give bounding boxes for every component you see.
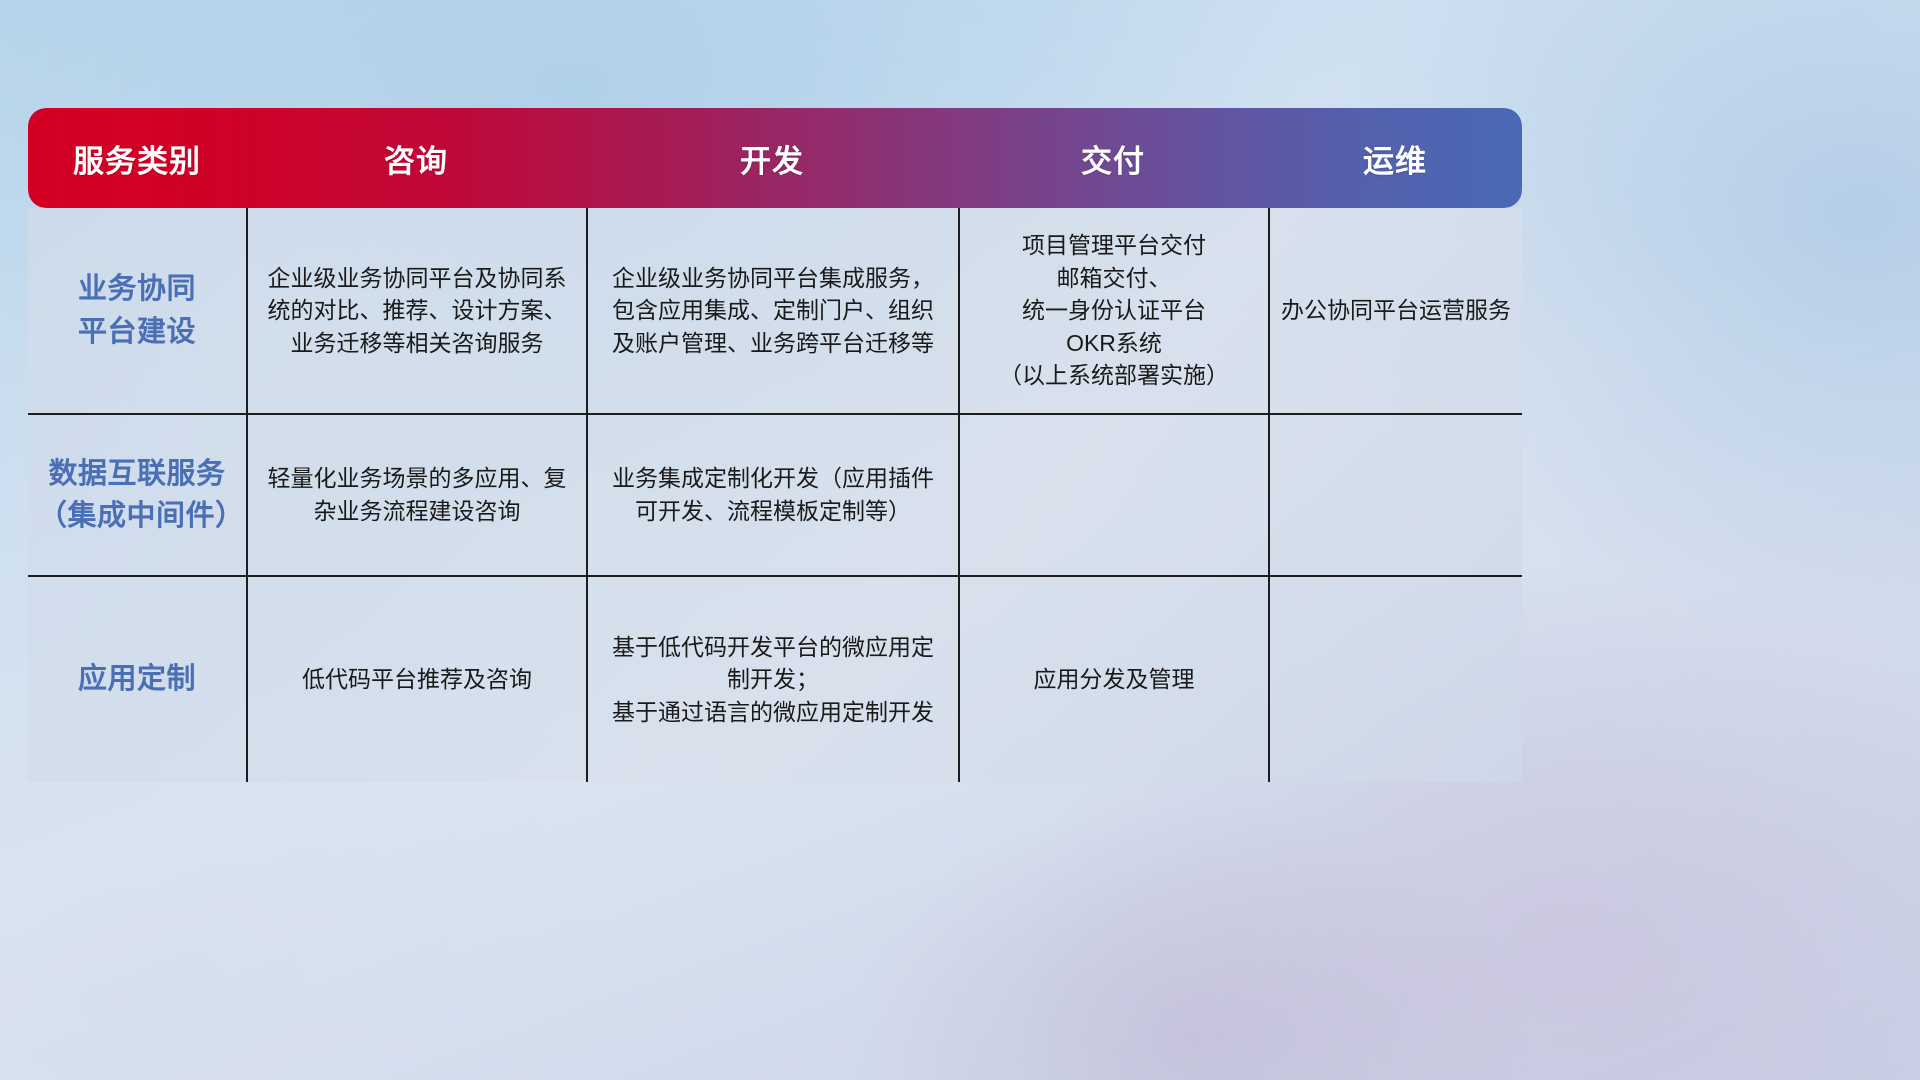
cell-consulting-row3: 低代码平台推荐及咨询 [246, 577, 586, 782]
column-header-category: 服务类别 [28, 108, 246, 208]
table-row: 应用定制 低代码平台推荐及咨询 基于低代码开发平台的微应用定 制开发； 基于通过… [28, 575, 1522, 782]
cell-operations-row1: 办公协同平台运营服务 [1268, 208, 1522, 413]
cell-development-row2: 业务集成定制化开发（应用插件 可开发、流程模板定制等） [586, 415, 958, 575]
column-header-delivery: 交付 [958, 108, 1268, 208]
cell-development-row1: 企业级业务协同平台集成服务， 包含应用集成、定制门户、组织 及账户管理、业务跨平… [586, 208, 958, 413]
cell-consulting-row1: 企业级业务协同平台及协同系 统的对比、推荐、设计方案、 业务迁移等相关咨询服务 [246, 208, 586, 413]
column-header-operations: 运维 [1268, 108, 1522, 208]
table-header-row: 服务类别 咨询 开发 交付 运维 [28, 108, 1522, 208]
column-header-consulting: 咨询 [246, 108, 586, 208]
cell-development-row3: 基于低代码开发平台的微应用定 制开发； 基于通过语言的微应用定制开发 [586, 577, 958, 782]
cell-operations-row2 [1268, 415, 1522, 575]
column-header-development: 开发 [586, 108, 958, 208]
service-matrix-table: 服务类别 咨询 开发 交付 运维 业务协同 平台建设 企业级业务协同平台及协同系… [28, 108, 1522, 782]
table-row: 业务协同 平台建设 企业级业务协同平台及协同系 统的对比、推荐、设计方案、 业务… [28, 208, 1522, 413]
cell-consulting-row2: 轻量化业务场景的多应用、复 杂业务流程建设咨询 [246, 415, 586, 575]
table-body: 业务协同 平台建设 企业级业务协同平台及协同系 统的对比、推荐、设计方案、 业务… [28, 208, 1522, 782]
cell-delivery-row1: 项目管理平台交付 邮箱交付、 统一身份认证平台 OKR系统 （以上系统部署实施） [958, 208, 1268, 413]
row-label-business-collab: 业务协同 平台建设 [28, 208, 246, 413]
cell-delivery-row2 [958, 415, 1268, 575]
row-label-data-interconnect: 数据互联服务 （集成中间件） [28, 415, 246, 575]
row-label-app-customization: 应用定制 [28, 577, 246, 782]
cell-delivery-row3: 应用分发及管理 [958, 577, 1268, 782]
table-row: 数据互联服务 （集成中间件） 轻量化业务场景的多应用、复 杂业务流程建设咨询 业… [28, 413, 1522, 575]
cell-operations-row3 [1268, 577, 1522, 782]
